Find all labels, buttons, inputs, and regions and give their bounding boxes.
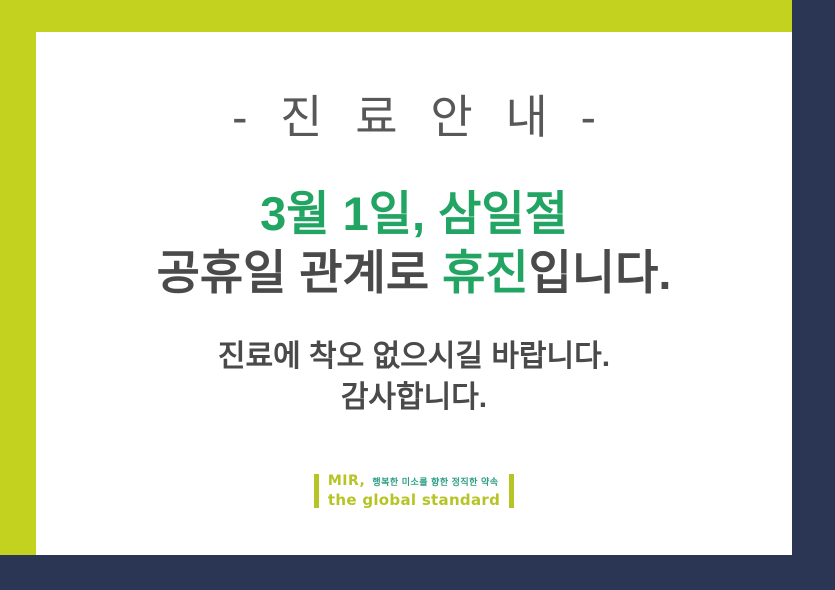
lime-frame-left-bar (0, 0, 36, 555)
page-title: - 진 료 안 내 - (222, 92, 606, 143)
headline-closure-accent: 휴진 (442, 246, 528, 299)
headline-closure-prefix: 공휴일 관계로 (157, 246, 443, 299)
notice-poster: - 진 료 안 내 - 3월 1일, 삼일절 공휴일 관계로 휴진입니다. 진료… (0, 0, 835, 590)
logo-brand-name: MIR, (328, 474, 366, 488)
mir-logo: MIR, 행복한 미소를 향한 정직한 약속 the global standa… (314, 474, 514, 508)
logo-tagline: the global standard (328, 493, 500, 508)
body-line-2: 감사합니다. (218, 378, 610, 419)
logo-bracket-right-icon (509, 474, 514, 508)
body-line-1: 진료에 착오 없으시길 바랍니다. (218, 337, 610, 378)
body-block: 진료에 착오 없으시길 바랍니다. 감사합니다. (218, 337, 610, 418)
headline-date: 3월 1일, 삼일절 (157, 185, 672, 242)
logo-text-group: MIR, 행복한 미소를 향한 정직한 약속 the global standa… (328, 474, 500, 508)
logo-top-row: MIR, 행복한 미소를 향한 정직한 약속 (328, 474, 500, 490)
logo-bracket-left-icon (314, 474, 319, 508)
lime-frame-top-bar (0, 0, 792, 32)
headline-block: 3월 1일, 삼일절 공휴일 관계로 휴진입니다. (157, 185, 672, 302)
headline-closure: 공휴일 관계로 휴진입니다. (157, 244, 672, 301)
logo-slogan-korean: 행복한 미소를 향한 정직한 약속 (372, 478, 498, 487)
notice-card: - 진 료 안 내 - 3월 1일, 삼일절 공휴일 관계로 휴진입니다. 진료… (36, 32, 792, 555)
headline-closure-suffix: 입니다. (529, 246, 672, 299)
